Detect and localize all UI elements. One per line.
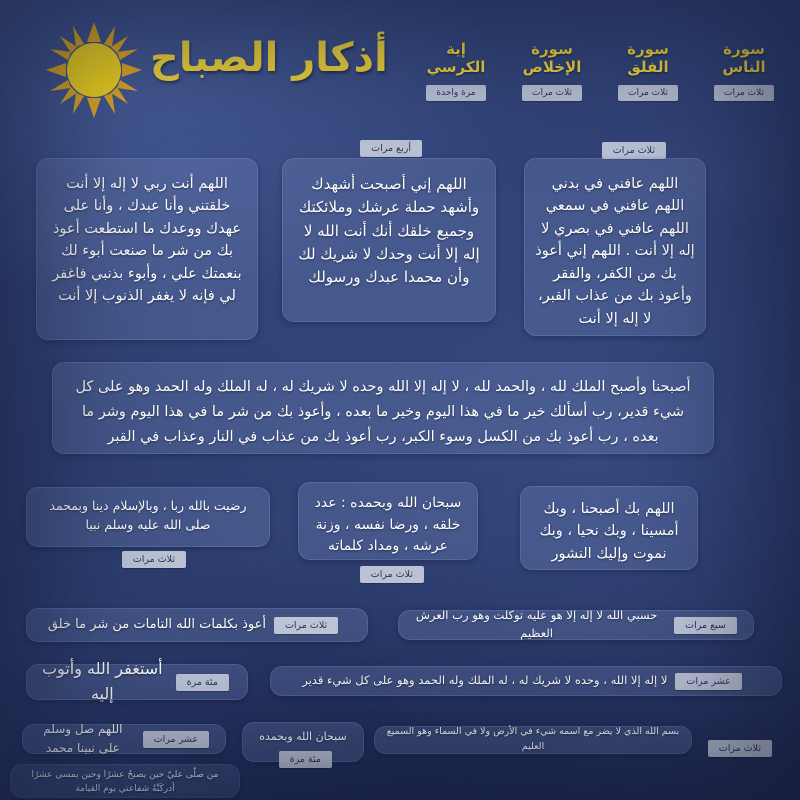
count-badge-subhan-bihamdih: مئة مرة — [279, 751, 332, 768]
dhikr-text: اللهم عافني في بدني اللهم عافني في سمعي … — [535, 173, 695, 330]
page-title: أذكار الصباح — [150, 36, 415, 80]
poster-header: أذكار الصباح سورة الناس ثلاث مرات سورة ا… — [0, 0, 800, 138]
count-badge-tahlil: عشر مرات — [675, 673, 741, 690]
count-badge-bismillah: ثلاث مرات — [708, 740, 772, 757]
count-badge-ashhaduka: أربع مرات — [360, 140, 422, 157]
dhikr-text: أستغفر الله وأتوب إليه — [37, 657, 168, 707]
dhikr-card-bika-asbahna[interactable]: اللهم بك أصبحنا ، وبك أمسينا ، وبك نحيا … — [520, 486, 698, 570]
dhikr-text: اللهم بك أصبحنا ، وبك أمسينا ، وبك نحيا … — [531, 498, 687, 565]
count-badge-hasbi: سبع مرات — [674, 617, 737, 634]
dhikr-text: اللهم صل وسلم على نبينا محمد — [31, 720, 135, 757]
dhikr-text: أعوذ بكلمات الله التامات من شر ما خلق — [48, 615, 266, 635]
dhikr-text: اللهم أنت ربي لا إله إلا أنت خلقتني وأنا… — [49, 173, 245, 308]
dhikr-text: لا إله إلا الله ، وحده لا شريك له ، له ا… — [302, 672, 667, 690]
dhikr-text: حسبي الله لا إله إلا هو عليه توكلت وهو ر… — [407, 607, 666, 643]
surah-count-badge: ثلاث مرات — [522, 85, 582, 101]
surah-count-badge: ثلاث مرات — [714, 85, 774, 101]
morning-adhkar-poster: أذكار الصباح سورة الناس ثلاث مرات سورة ا… — [0, 0, 800, 800]
surah-count-badge: مرة واحدة — [426, 85, 485, 101]
dhikr-card-tahlil[interactable]: عشر مرات لا إله إلا الله ، وحده لا شريك … — [270, 666, 782, 696]
surah-item-ayat-al-kursi[interactable]: إية الكرسي مرة واحدة — [408, 40, 504, 101]
surah-name: إية الكرسي — [408, 40, 504, 77]
footer-hadith: من صلّى عليّ حين يصبحُ عشرًا وحين يمسي ع… — [10, 764, 240, 798]
surah-item-al-falaq[interactable]: سورة الفلق ثلاث مرات — [600, 40, 696, 101]
count-badge-aafini: ثلاث مرات — [602, 142, 666, 159]
sun-icon — [46, 22, 142, 118]
count-badge-kalimat: ثلاث مرات — [274, 617, 338, 634]
dhikr-card-sayyid-al-istighfar[interactable]: اللهم أنت ربي لا إله إلا أنت خلقتني وأنا… — [36, 158, 258, 340]
dhikr-text: رضيت بالله ربا ، وبالإسلام دينا وبمحمد ص… — [37, 497, 259, 535]
dhikr-card-hasbi-allah[interactable]: سبع مرات حسبي الله لا إله إلا هو عليه تو… — [398, 610, 754, 640]
dhikr-text: سبحان الله وبحمده — [249, 728, 357, 745]
dhikr-card-salat-ala-an-nabi[interactable]: عشر مرات اللهم صل وسلم على نبينا محمد — [22, 724, 226, 754]
dhikr-text: أصبحنا وأصبح الملك لله ، والحمد لله ، لا… — [71, 375, 695, 450]
dhikr-card-bismillah[interactable]: بسم الله الذي لا يضر مع اسمه شيء في الأر… — [374, 726, 692, 754]
dhikr-text: سبحان الله وبحمده : عدد خلقه ، ورضا نفسه… — [309, 493, 467, 558]
count-badge-subhan-adad: ثلاث مرات — [360, 566, 424, 583]
dhikr-text: بسم الله الذي لا يضر مع اسمه شيء في الأر… — [381, 725, 685, 754]
dhikr-card-asbahna[interactable]: أصبحنا وأصبح الملك لله ، والحمد لله ، لا… — [52, 362, 714, 454]
count-badge-istighfar: مئة مرة — [176, 674, 229, 691]
surah-name: سورة الفلق — [600, 40, 696, 77]
surah-count-badge: ثلاث مرات — [618, 85, 678, 101]
dhikr-text: اللهم إني أصبحت أشهدك وأشهد حملة عرشك وم… — [295, 173, 483, 289]
dhikr-card-aafini[interactable]: اللهم عافني في بدني اللهم عافني في سمعي … — [524, 158, 706, 336]
surah-name: سورة الناس — [696, 40, 792, 77]
surah-item-al-ikhlas[interactable]: سورة الإخلاص ثلاث مرات — [504, 40, 600, 101]
dhikr-card-subhan-adad-khalqih[interactable]: سبحان الله وبحمده : عدد خلقه ، ورضا نفسه… — [298, 482, 478, 560]
dhikr-card-istighfar[interactable]: مئة مرة أستغفر الله وأتوب إليه — [26, 664, 248, 700]
hadith-text: من صلّى عليّ حين يصبحُ عشرًا وحين يمسي ع… — [19, 769, 231, 796]
dhikr-card-radeet-billah[interactable]: رضيت بالله ربا ، وبالإسلام دينا وبمحمد ص… — [26, 487, 270, 547]
surah-links: سورة الناس ثلاث مرات سورة الفلق ثلاث مرا… — [408, 40, 792, 101]
count-badge-radeet: ثلاث مرات — [122, 551, 186, 568]
count-badge-salat: عشر مرات — [143, 731, 209, 748]
dhikr-card-kalimat-tammat[interactable]: ثلاث مرات أعوذ بكلمات الله التامات من شر… — [26, 608, 368, 642]
surah-item-an-nas[interactable]: سورة الناس ثلاث مرات — [696, 40, 792, 101]
surah-name: سورة الإخلاص — [504, 40, 600, 77]
dhikr-card-ashhaduka[interactable]: اللهم إني أصبحت أشهدك وأشهد حملة عرشك وم… — [282, 158, 496, 322]
